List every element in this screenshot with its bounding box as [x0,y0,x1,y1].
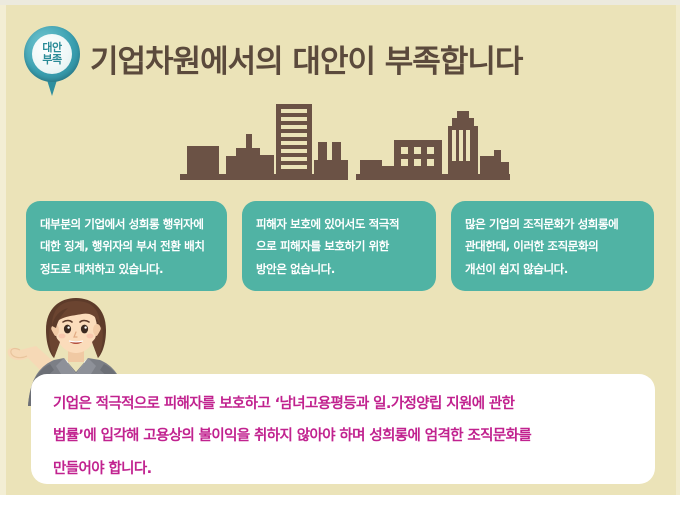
conclusion-line1: 기업은 적극적으로 피해자를 보호하고 ‘남녀고용평등과 일.가정양립 지원에 … [53,388,633,420]
infobox-2-line3: 방안은 없습니다. [256,258,422,280]
left-edge-strip [0,5,6,495]
infobox-3-line2: 관대한데, 이러한 조직문화의 [465,235,640,257]
conclusion-line2: 법률’에 입각해 고용상의 불이익을 취하지 않아야 하며 성희롱에 엄격한 조… [53,420,633,452]
infobox-3-line3: 개선이 쉽지 않습니다. [465,258,640,280]
pin-label: 대안 부족 [32,34,72,74]
infobox-2-line2: 으로 피해자를 보호하기 위한 [256,235,422,257]
infobox-victim-protection: 피해자 보호에 있어서도 적극적 으로 피해자를 보호하기 위한 방안은 없습니… [242,201,436,291]
infobox-organizational-culture: 많은 기업의 조직문화가 성희롱에 관대한데, 이러한 조직문화의 개선이 쉽지… [451,201,654,291]
infobox-2-line1: 피해자 보호에 있어서도 적극적 [256,213,422,235]
page-title: 기업차원에서의 대안이 부족합니다 [90,36,522,81]
infobox-company-discipline: 대부분의 기업에서 성희롱 행위자에 대한 징계, 행위자의 부서 전환 배치 … [26,201,227,291]
infobox-1-line1: 대부분의 기업에서 성희롱 행위자에 [40,213,213,235]
right-edge-strip [676,5,680,495]
header-badge-pin: 대안 부족 [24,26,80,96]
conclusion-line3: 만들어야 합니다. [53,453,633,485]
infobox-1-line2: 대한 징계, 행위자의 부서 전환 배치 [40,235,213,257]
city-skyline-icon [180,98,510,180]
conclusion-panel: 기업은 적극적으로 피해자를 보호하고 ‘남녀고용평등과 일.가정양립 지원에 … [31,374,655,484]
infobox-3-line1: 많은 기업의 조직문화가 성희롱에 [465,213,640,235]
slide-root: 대안 부족 기업차원에서의 대안이 부족합니다 [0,0,680,510]
infobox-1-line3: 정도로 대처하고 있습니다. [40,258,213,280]
pin-label-line2: 부족 [42,54,61,66]
